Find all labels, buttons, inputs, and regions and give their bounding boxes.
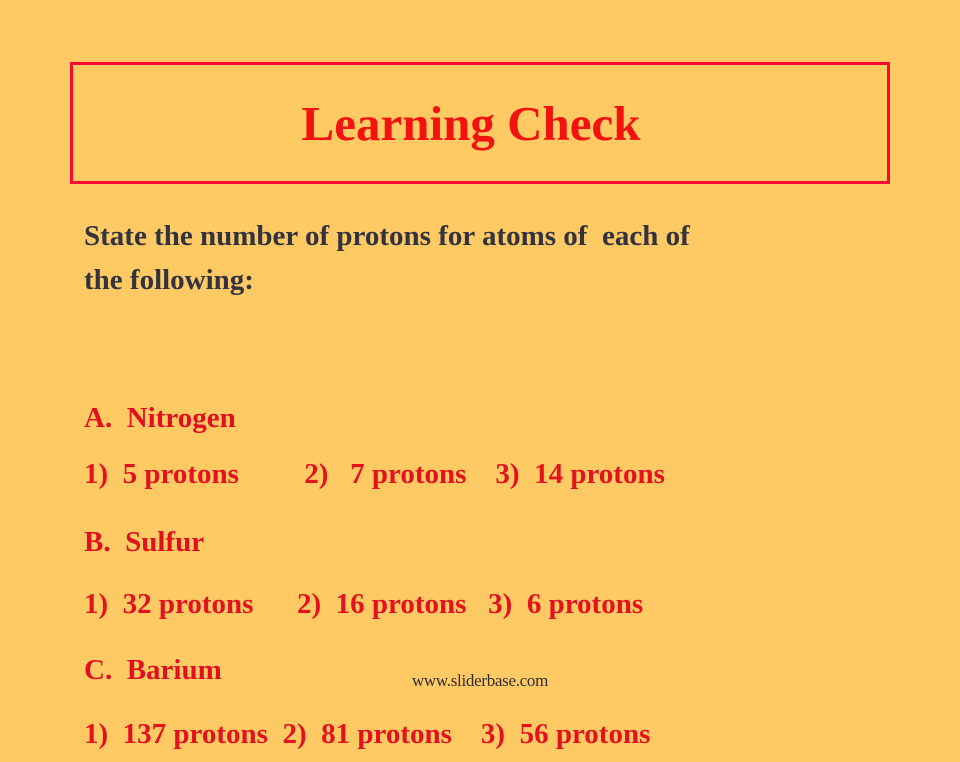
section-options-b[interactable]: 1) 32 protons 2) 16 protons 3) 6 protons bbox=[84, 590, 643, 619]
sections-container: A. Nitrogen 1) 5 protons 2) 7 protons 3)… bbox=[84, 302, 884, 762]
section-options-c[interactable]: 1) 137 protons 2) 81 protons 3) 56 proto… bbox=[84, 720, 650, 749]
section-options-a[interactable]: 1) 5 protons 2) 7 protons 3) 14 protons bbox=[84, 460, 665, 489]
slide-canvas: Learning Check State the number of proto… bbox=[0, 0, 960, 720]
prompt-line-2: the following: bbox=[84, 258, 884, 302]
footer-watermark: www.sliderbase.com bbox=[0, 671, 960, 691]
title-box: Learning Check bbox=[70, 62, 890, 184]
section-heading-a: A. Nitrogen bbox=[84, 404, 236, 433]
section-heading-b: B. Sulfur bbox=[84, 528, 204, 557]
prompt-line-1: State the number of protons for atoms of… bbox=[84, 214, 884, 258]
page-title: Learning Check bbox=[73, 65, 887, 181]
